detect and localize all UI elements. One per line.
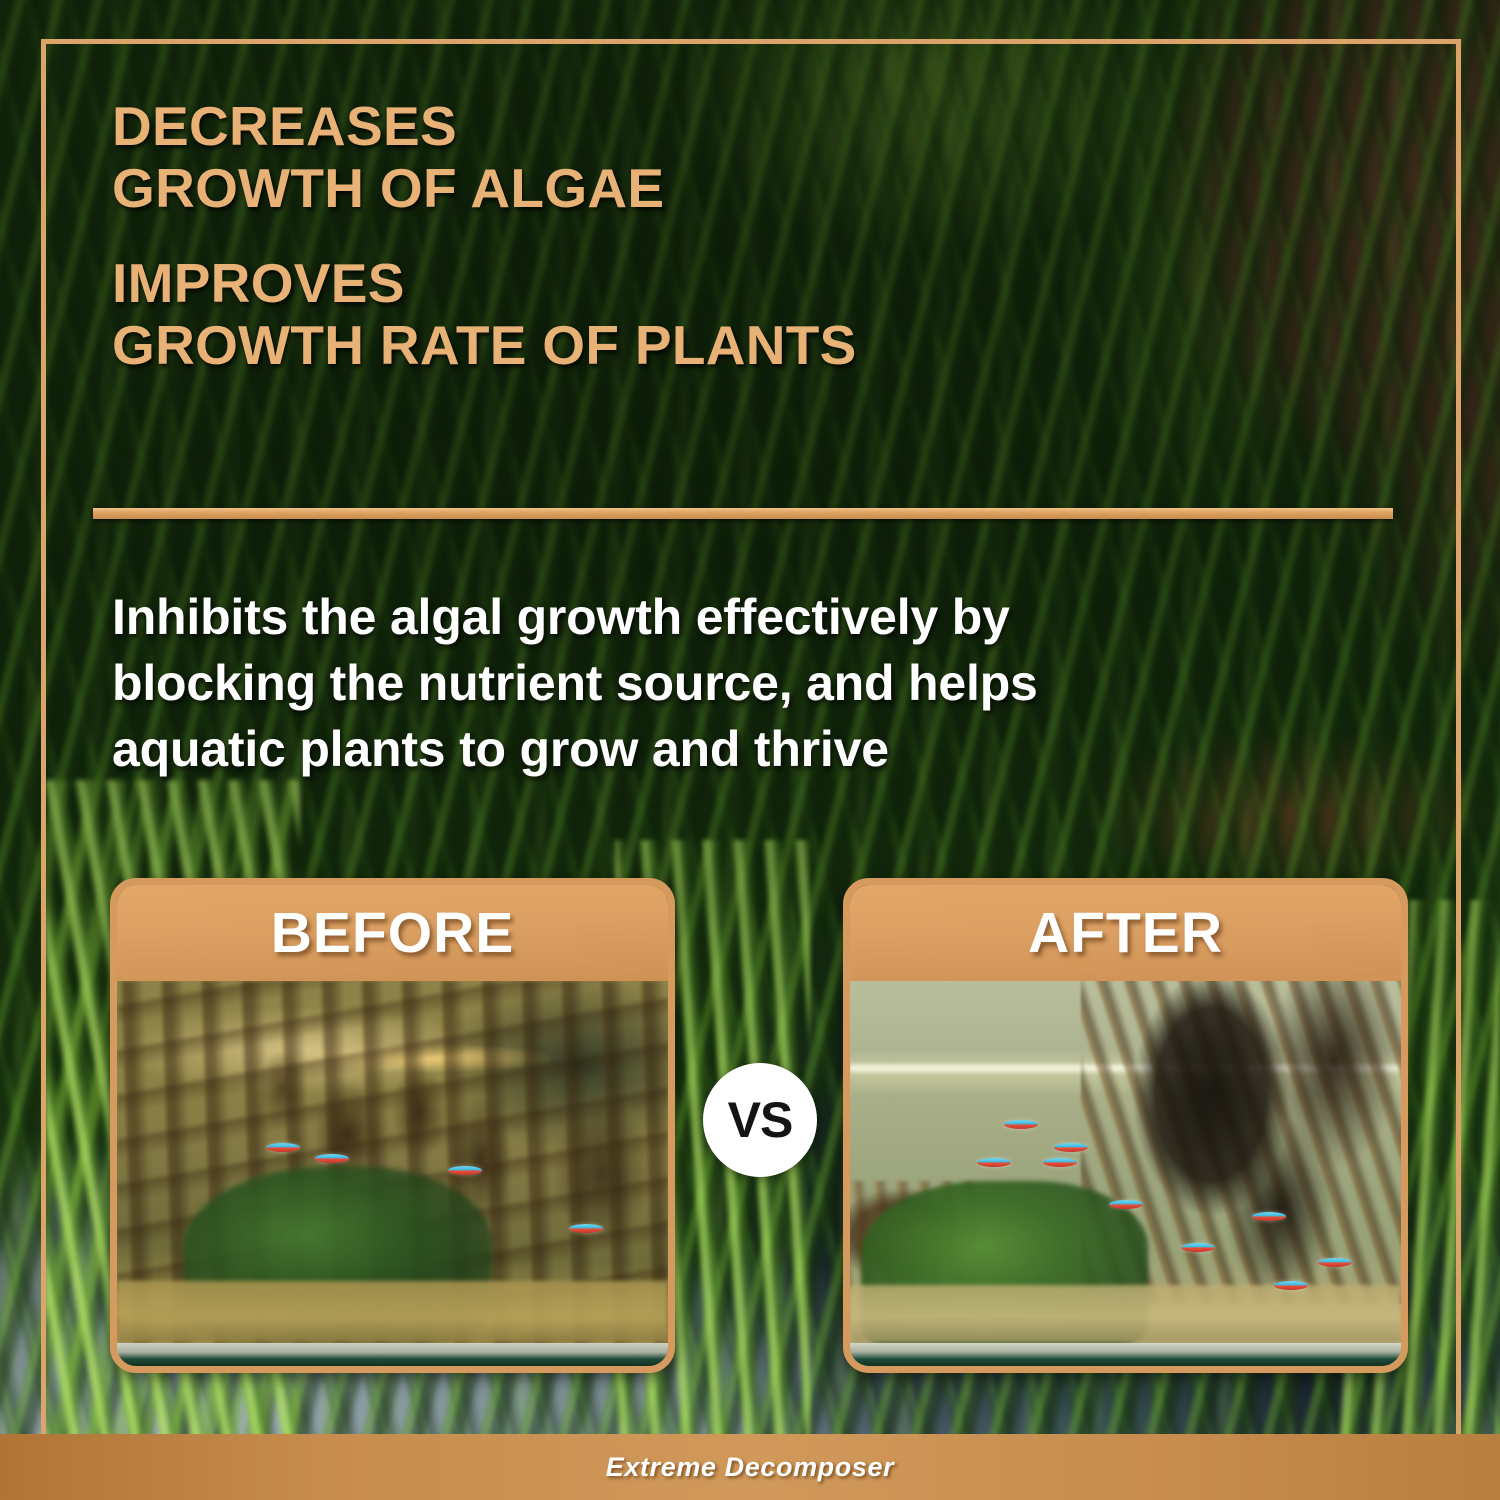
panel-label-after: AFTER: [1028, 900, 1223, 966]
fish-icon: [448, 1166, 482, 1175]
body-line: Inhibits the algal growth effectively by: [112, 584, 1342, 650]
fish-icon: [977, 1158, 1011, 1167]
headline-line: GROWTH RATE OF PLANTS: [112, 315, 1212, 377]
horizontal-divider-rule: [93, 508, 1393, 519]
body-line: aquatic plants to grow and thrive: [112, 716, 1342, 782]
fish-icon: [266, 1143, 300, 1152]
comparison-panel-after: AFTER: [843, 878, 1408, 1373]
headline-line: IMPROVES: [112, 253, 1212, 315]
fish-icon: [1043, 1158, 1077, 1167]
versus-label: VS: [728, 1091, 793, 1149]
headline-line: DECREASES: [112, 96, 1212, 158]
body-line: blocking the nutrient source, and helps: [112, 650, 1342, 716]
panel-header-before: BEFORE: [117, 885, 668, 981]
body-paragraph: Inhibits the algal growth effectively by…: [112, 584, 1342, 782]
panel-header-after: AFTER: [850, 885, 1401, 981]
headline-line: GROWTH OF ALGAE: [112, 158, 1212, 220]
fish-icon: [1054, 1143, 1088, 1152]
after-substrate: [850, 1285, 1401, 1343]
before-tank-rim: [117, 1343, 668, 1366]
versus-badge: VS: [703, 1063, 817, 1177]
headline-block-plants: IMPROVES GROWTH RATE OF PLANTS: [112, 253, 1212, 376]
fish-icon: [1181, 1243, 1215, 1252]
before-substrate: [117, 1281, 668, 1343]
after-tank-rim: [850, 1343, 1401, 1366]
comparison-panel-before: BEFORE: [110, 878, 675, 1373]
headline-block-algae: DECREASES GROWTH OF ALGAE: [112, 96, 1212, 219]
fish-icon: [1252, 1212, 1286, 1221]
infographic-canvas: DECREASES GROWTH OF ALGAE IMPROVES GROWT…: [0, 0, 1500, 1500]
brand-name: Extreme Decomposer: [606, 1452, 894, 1483]
fish-icon: [1004, 1120, 1038, 1129]
panel-label-before: BEFORE: [271, 900, 515, 966]
fish-icon: [569, 1224, 603, 1233]
footer-brand-band: Extreme Decomposer: [0, 1434, 1500, 1500]
aquarium-photo-after: [850, 981, 1401, 1366]
headline-group: DECREASES GROWTH OF ALGAE IMPROVES GROWT…: [112, 96, 1212, 376]
aquarium-photo-before: [117, 981, 668, 1366]
